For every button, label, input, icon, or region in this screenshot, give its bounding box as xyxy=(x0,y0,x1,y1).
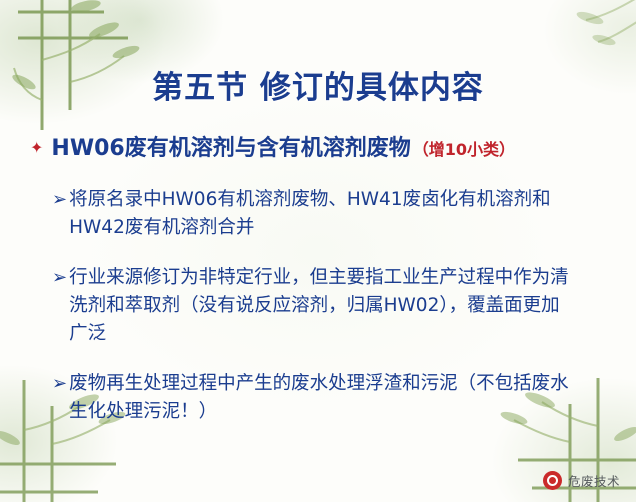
bullet-paragraph-text: 废物再生处理过程中产生的废水处理浮渣和污泥（不包括废水生化处理污泥！） xyxy=(69,370,572,426)
bullet-paragraph-text: 将原名录中HW06有机溶剂废物、HW41废卤化有机溶剂和HW42废有机溶剂合并 xyxy=(69,186,572,242)
bullet-paragraph: ➢ 将原名录中HW06有机溶剂废物、HW41废卤化有机溶剂和HW42废有机溶剂合… xyxy=(52,186,572,242)
body-content: ➢ 将原名录中HW06有机溶剂废物、HW41废卤化有机溶剂和HW42废有机溶剂合… xyxy=(52,186,572,448)
section-subheading: ✦ HW06废有机溶剂与含有机溶剂废物 （增10小类） xyxy=(30,130,515,162)
bullet-paragraph-text: 行业来源修订为非特定行业，但主要指工业生产过程中作为清洗剂和萃取剂（没有说反应溶… xyxy=(69,264,572,348)
footer-brand: 危废技术 xyxy=(543,471,620,490)
arrow-bullet-icon: ➢ xyxy=(52,264,67,292)
circular-brand-logo-icon xyxy=(543,471,562,490)
arrow-bullet-icon: ➢ xyxy=(52,370,67,398)
arrow-bullet-icon: ➢ xyxy=(52,186,67,214)
diamond-bullet-icon: ✦ xyxy=(30,141,43,157)
bullet-paragraph: ➢ 行业来源修订为非特定行业，但主要指工业生产过程中作为清洗剂和萃取剂（没有说反… xyxy=(52,264,572,348)
subheading-note-text: （增10小类） xyxy=(413,136,515,160)
bullet-paragraph: ➢ 废物再生处理过程中产生的废水处理浮渣和污泥（不包括废水生化处理污泥！） xyxy=(52,370,572,426)
page-title: 第五节 修订的具体内容 xyxy=(0,62,636,107)
slide-canvas: 第五节 修订的具体内容 ✦ HW06废有机溶剂与含有机溶剂废物 （增10小类） … xyxy=(0,0,636,502)
subheading-main-text: HW06废有机溶剂与含有机溶剂废物 xyxy=(51,130,410,162)
footer-brand-text: 危废技术 xyxy=(568,471,620,490)
